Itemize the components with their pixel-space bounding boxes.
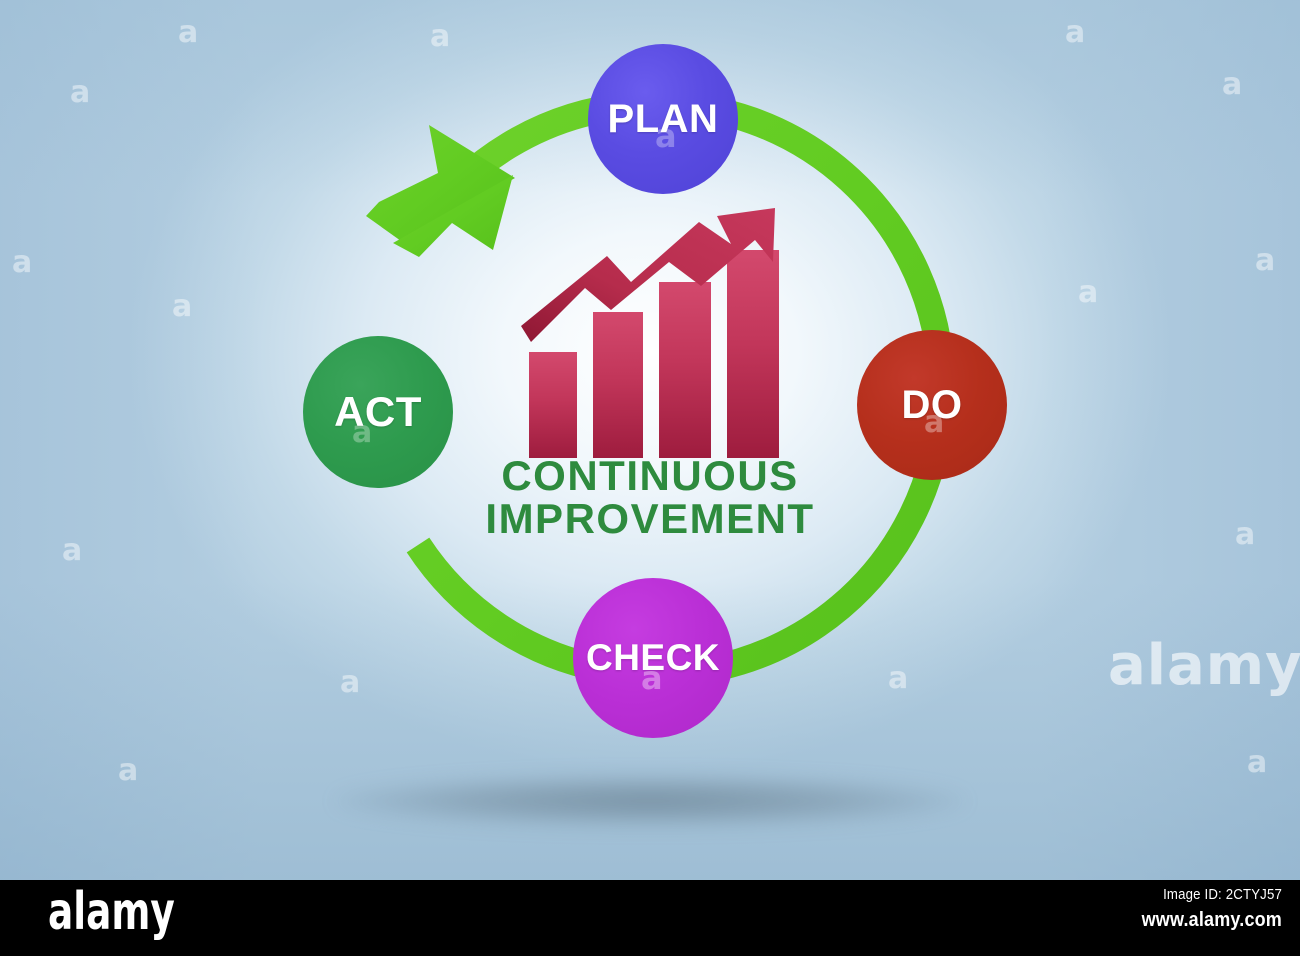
pdca-node-plan[interactable]: PLAN — [588, 44, 738, 194]
center-caption-line-2: IMPROVEMENT — [0, 498, 1300, 541]
pdca-node-do-label: DO — [902, 383, 963, 428]
watermark-a-icon: a — [172, 292, 192, 322]
pdca-node-check-label: CHECK — [586, 637, 720, 679]
watermark-a-icon: a — [118, 756, 138, 786]
watermark-a-icon: a — [178, 18, 198, 48]
growth-bar-chart-with-arrow-icon — [521, 208, 779, 458]
alamy-logo: alamy — [48, 886, 175, 938]
watermark-a-icon: a — [70, 78, 90, 108]
watermark-wordmark: alamy — [1108, 638, 1300, 694]
watermark-a-icon: a — [1255, 246, 1275, 276]
site-url-label: www.alamy.com — [1142, 909, 1282, 932]
footer-bar: alamy Image ID: 2CTYJ57 www.alamy.com — [0, 880, 1300, 956]
watermark-a-icon: a — [1065, 18, 1085, 48]
center-caption: CONTINUOUS IMPROVEMENT — [0, 455, 1300, 541]
ground-shadow — [335, 775, 965, 827]
pdca-node-check[interactable]: CHECK — [573, 578, 733, 738]
watermark-a-icon: a — [1222, 70, 1242, 100]
screenshot-root: a a a a a a a a a a a a a a a — [0, 0, 1300, 956]
watermark-a-icon: a — [1078, 278, 1098, 308]
diagram-artboard: a a a a a a a a a a a a a a a — [0, 0, 1300, 880]
footer-meta: Image ID: 2CTYJ57 www.alamy.com — [1126, 886, 1282, 932]
pdca-node-act-label: ACT — [334, 388, 422, 436]
watermark-a-icon: a — [1247, 748, 1267, 778]
watermark-a-icon: a — [12, 248, 32, 278]
pdca-node-plan-label: PLAN — [608, 97, 719, 142]
image-id-label: Image ID: 2CTYJ57 — [1145, 886, 1282, 903]
center-caption-line-1: CONTINUOUS — [0, 455, 1300, 498]
